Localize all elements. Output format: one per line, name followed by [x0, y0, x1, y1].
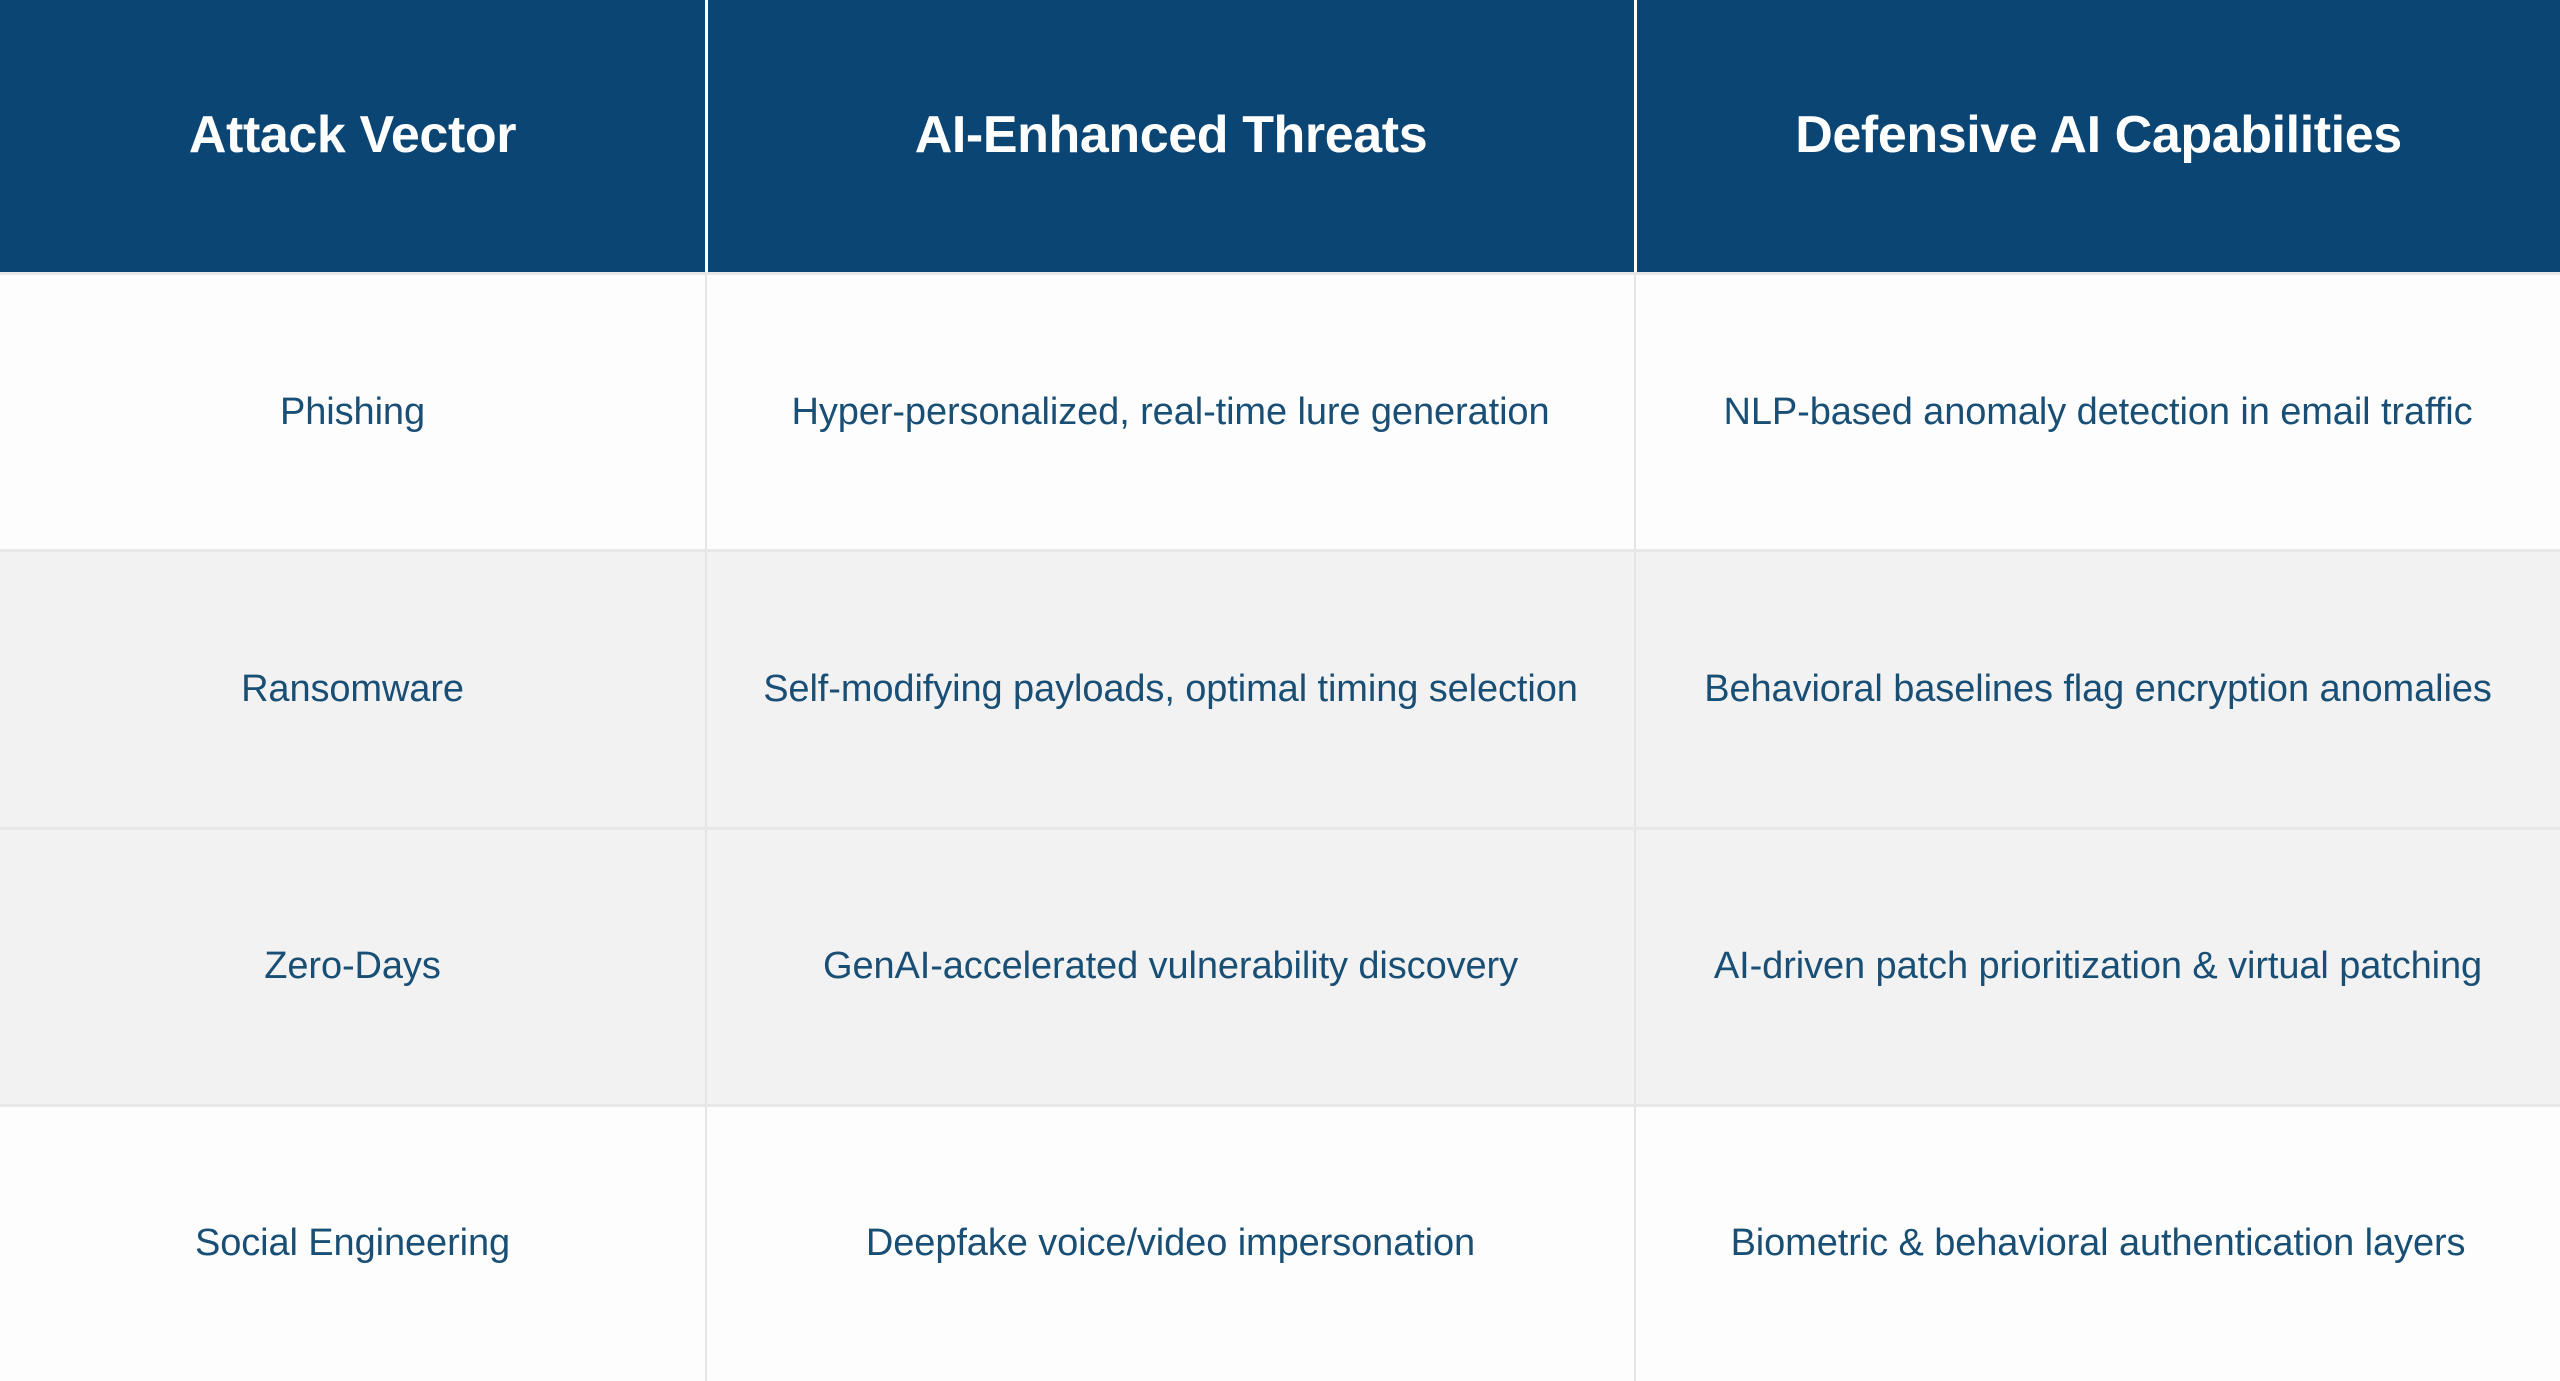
cell-value: Ransomware: [241, 662, 464, 717]
cell-value: Behavioral baselines flag encryption ano…: [1704, 662, 2492, 717]
column-header-defensive-ai-capabilities: Defensive AI Capabilities: [1634, 0, 2560, 272]
table-body: Phishing Hyper-personalized, real-time l…: [0, 272, 2560, 1381]
cell-value: Self-modifying payloads, optimal timing …: [763, 662, 1578, 717]
cell-value: Zero-Days: [264, 939, 440, 994]
column-header-attack-vector: Attack Vector: [0, 0, 705, 272]
cell-ai-enhanced-threats: GenAI-accelerated vulnerability discover…: [705, 830, 1634, 1104]
cell-attack-vector: Zero-Days: [0, 830, 705, 1104]
cell-value: NLP-based anomaly detection in email tra…: [1724, 385, 2473, 440]
column-header-label: Defensive AI Capabilities: [1795, 104, 2402, 167]
cell-attack-vector: Social Engineering: [0, 1107, 705, 1381]
table-row: Ransomware Self-modifying payloads, opti…: [0, 549, 2560, 826]
cell-ai-enhanced-threats: Hyper-personalized, real-time lure gener…: [705, 275, 1634, 549]
cell-defensive-ai-capabilities: Biometric & behavioral authentication la…: [1634, 1107, 2560, 1381]
column-header-ai-enhanced-threats: AI-Enhanced Threats: [705, 0, 1634, 272]
table-row: Phishing Hyper-personalized, real-time l…: [0, 272, 2560, 549]
cell-ai-enhanced-threats: Deepfake voice/video impersonation: [705, 1107, 1634, 1381]
table-row: Social Engineering Deepfake voice/video …: [0, 1104, 2560, 1381]
table-row: Zero-Days GenAI-accelerated vulnerabilit…: [0, 827, 2560, 1104]
cell-value: Phishing: [280, 385, 425, 440]
cell-ai-enhanced-threats: Self-modifying payloads, optimal timing …: [705, 552, 1634, 826]
cell-attack-vector: Ransomware: [0, 552, 705, 826]
cell-defensive-ai-capabilities: Behavioral baselines flag encryption ano…: [1634, 552, 2560, 826]
cell-attack-vector: Phishing: [0, 275, 705, 549]
cell-value: Social Engineering: [195, 1216, 510, 1271]
cell-value: GenAI-accelerated vulnerability discover…: [823, 939, 1518, 994]
cell-value: AI-driven patch prioritization & virtual…: [1714, 939, 2482, 994]
comparison-table: Attack Vector AI-Enhanced Threats Defens…: [0, 0, 2560, 1381]
column-header-label: Attack Vector: [189, 104, 516, 167]
cell-value: Hyper-personalized, real-time lure gener…: [792, 385, 1550, 440]
cell-defensive-ai-capabilities: NLP-based anomaly detection in email tra…: [1634, 275, 2560, 549]
cell-value: Biometric & behavioral authentication la…: [1731, 1216, 2466, 1271]
cell-defensive-ai-capabilities: AI-driven patch prioritization & virtual…: [1634, 830, 2560, 1104]
column-header-label: AI-Enhanced Threats: [915, 104, 1428, 167]
cell-value: Deepfake voice/video impersonation: [866, 1216, 1475, 1271]
table-header-row: Attack Vector AI-Enhanced Threats Defens…: [0, 0, 2560, 272]
